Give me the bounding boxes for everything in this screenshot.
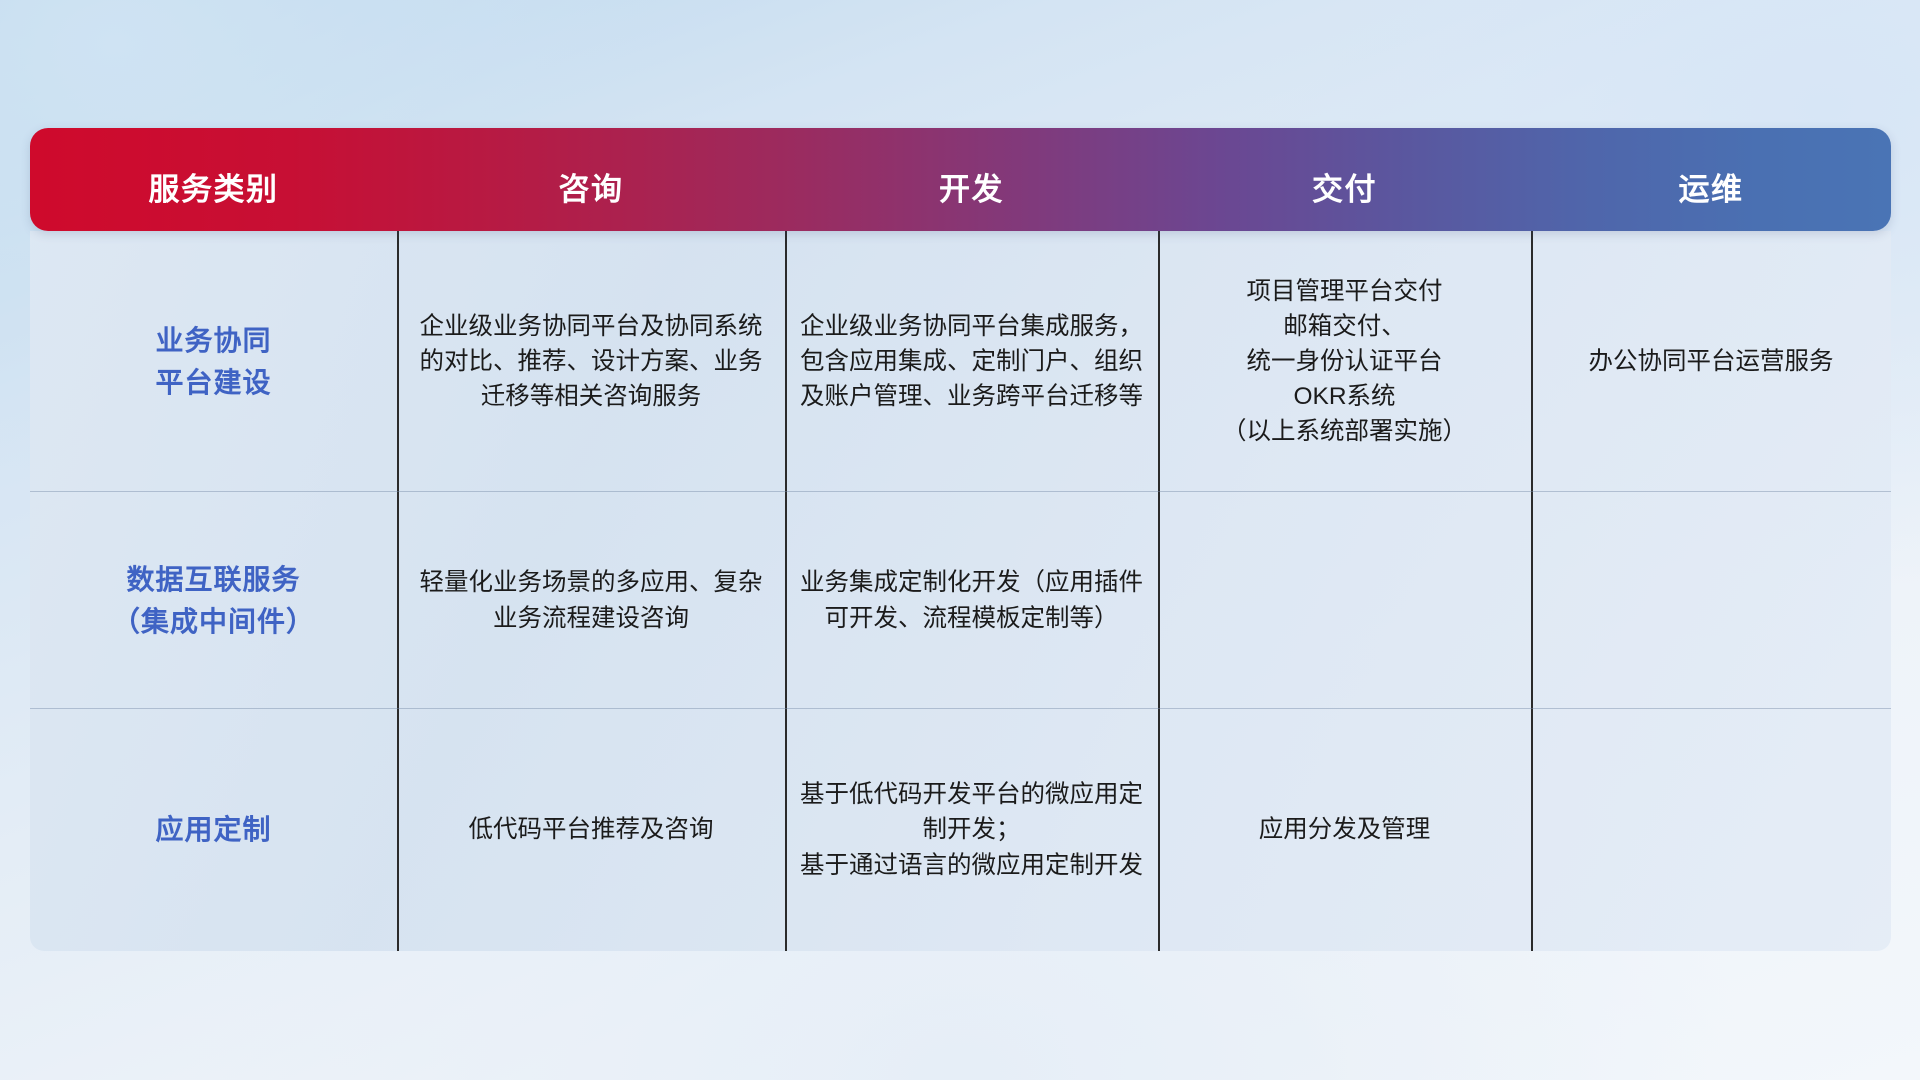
service-matrix-table: 服务类别 咨询 开发 交付 运维 业务协同平台建设 企业级业务协同平台及协同系统…: [30, 128, 1891, 951]
column-header-label: 开发: [939, 164, 1004, 209]
cell-operations: [1531, 492, 1891, 709]
column-header-operations: 运维: [1531, 128, 1891, 231]
table-row: 业务协同平台建设 企业级业务协同平台及协同系统的对比、推荐、设计方案、业务迁移等…: [30, 231, 1891, 492]
table-body: 业务协同平台建设 企业级业务协同平台及协同系统的对比、推荐、设计方案、业务迁移等…: [30, 231, 1891, 951]
cell-consulting: 轻量化业务场景的多应用、复杂业务流程建设咨询: [397, 492, 785, 709]
column-header-label: 服务类别: [149, 164, 279, 209]
cell-operations: 办公协同平台运营服务: [1531, 231, 1891, 492]
cell-development: 企业级业务协同平台集成服务，包含应用集成、定制门户、组织及账户管理、业务跨平台迁…: [785, 231, 1158, 492]
cell-delivery: 应用分发及管理: [1158, 709, 1531, 951]
cell-delivery: 项目管理平台交付邮箱交付、统一身份认证平台OKR系统（以上系统部署实施）: [1158, 231, 1531, 492]
cell-development: 业务集成定制化开发（应用插件可开发、流程模板定制等）: [785, 492, 1158, 709]
cell-development: 基于低代码开发平台的微应用定制开发；基于通过语言的微应用定制开发: [785, 709, 1158, 951]
cell-service-category: 业务协同平台建设: [30, 231, 397, 492]
column-header-label: 交付: [1312, 164, 1377, 209]
column-header-label: 运维: [1679, 164, 1744, 209]
table-row: 数据互联服务（集成中间件） 轻量化业务场景的多应用、复杂业务流程建设咨询 业务集…: [30, 492, 1891, 709]
column-header-label: 咨询: [559, 164, 624, 209]
column-header-delivery: 交付: [1158, 128, 1531, 231]
cell-delivery: [1158, 492, 1531, 709]
cell-consulting: 企业级业务协同平台及协同系统的对比、推荐、设计方案、业务迁移等相关咨询服务: [397, 231, 785, 492]
cell-operations: [1531, 709, 1891, 951]
table-header-row: 服务类别 咨询 开发 交付 运维: [30, 128, 1891, 231]
cell-consulting: 低代码平台推荐及咨询: [397, 709, 785, 951]
column-header-development: 开发: [785, 128, 1158, 231]
column-header-consulting: 咨询: [397, 128, 785, 231]
column-header-service-category: 服务类别: [30, 128, 397, 231]
cell-service-category: 数据互联服务（集成中间件）: [30, 492, 397, 709]
cell-service-category: 应用定制: [30, 709, 397, 951]
table-row: 应用定制 低代码平台推荐及咨询 基于低代码开发平台的微应用定制开发；基于通过语言…: [30, 709, 1891, 951]
